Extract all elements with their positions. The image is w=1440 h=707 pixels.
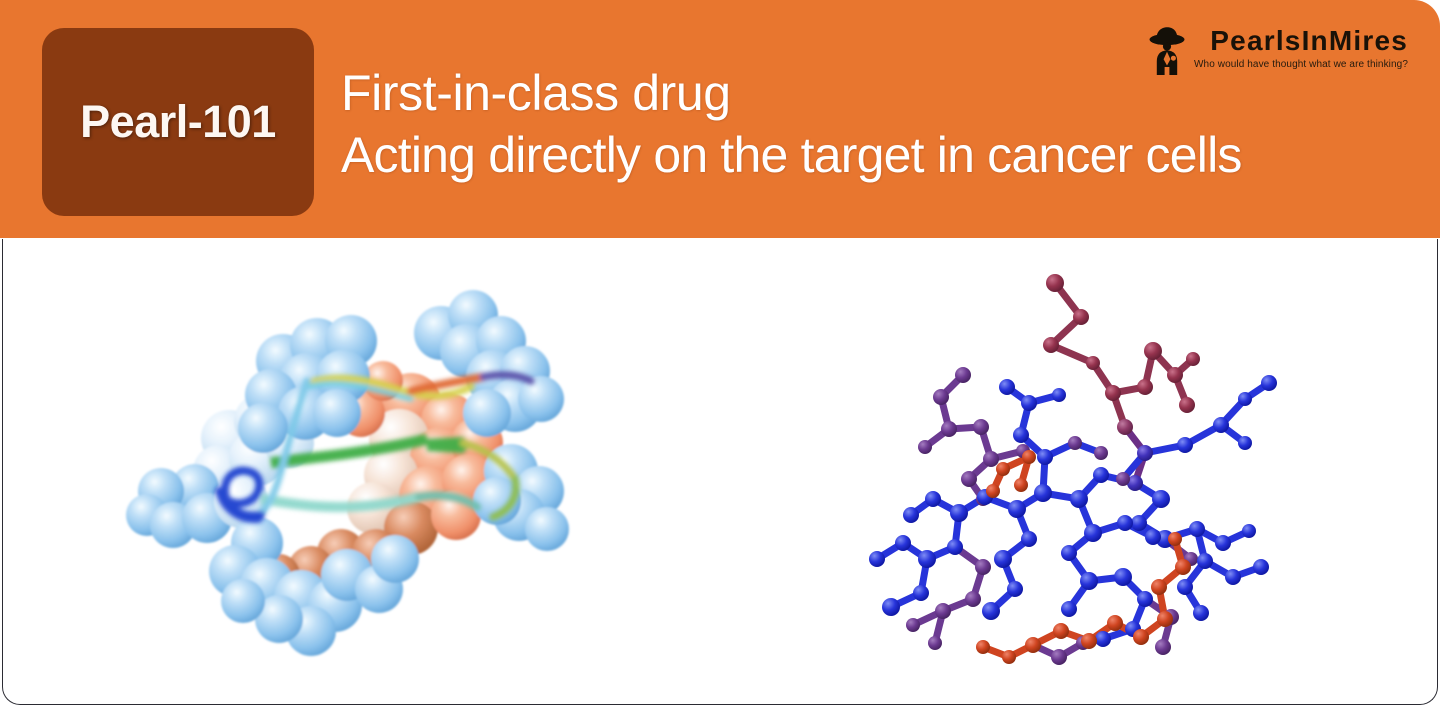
figure-protein-surface — [111, 253, 591, 693]
brand-tagline: Who would have thought what we are think… — [1194, 59, 1408, 71]
figure-peptide-ball-stick — [793, 247, 1303, 687]
content-panel — [2, 239, 1438, 705]
peptide-ball-and-stick-structure-graphic — [793, 247, 1303, 687]
figure-row — [3, 239, 1437, 704]
person-in-hat-silhouette-icon — [1146, 25, 1188, 77]
brand-logo: PearlsInMires Who would have thought wha… — [1146, 24, 1408, 77]
headline-line-2: Acting directly on the target in cancer … — [341, 124, 1421, 186]
headline-block: First-in-class drug Acting directly on t… — [341, 62, 1421, 186]
brand-logo-text: PearlsInMires Who would have thought wha… — [1194, 24, 1408, 71]
blue-atoms — [869, 375, 1277, 647]
protein-surface-structure-graphic — [111, 253, 591, 693]
header-banner: Pearl-101 First-in-class drug Acting dir… — [0, 0, 1440, 238]
indigo-purple-atoms — [906, 367, 1198, 665]
brand-name: PearlsInMires — [1210, 26, 1408, 56]
pearl-number-badge: Pearl-101 — [42, 28, 314, 216]
slide-canvas: Pearl-101 First-in-class drug Acting dir… — [0, 0, 1440, 707]
pearl-number-label: Pearl-101 — [80, 96, 276, 148]
